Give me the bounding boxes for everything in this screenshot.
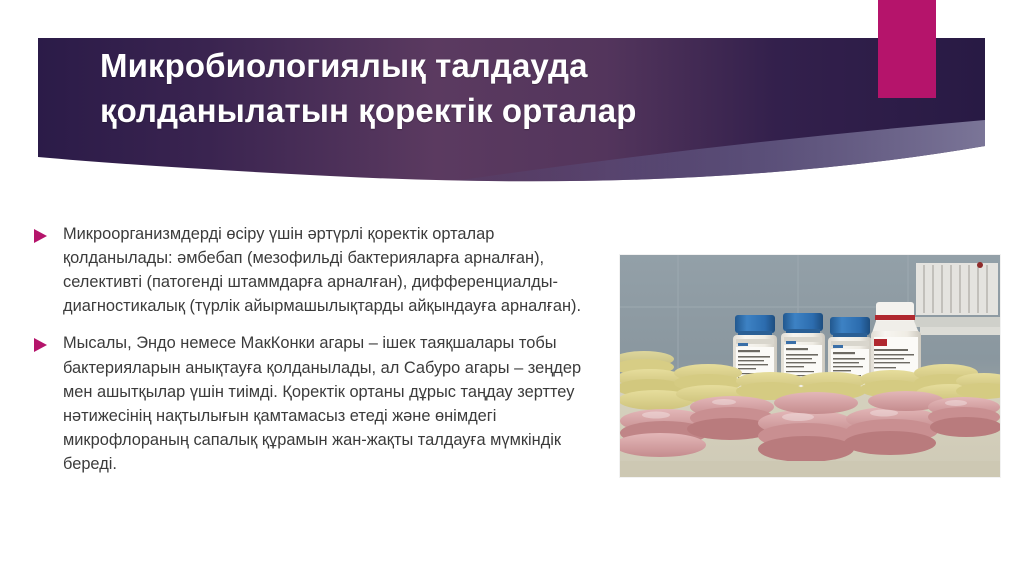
page-title: Микробиологиялық талдауда қолданылатын қ… [100,44,860,134]
list-item: Мысалы, Эндо немесе МакКонки агары – іше… [34,331,604,476]
title-block: Микробиологиялық талдауда қолданылатын қ… [100,44,860,134]
triangle-bullet-icon [34,338,50,352]
triangle-bullet-icon [34,229,50,243]
list-item-text: Микроорганизмдерді өсіру үшін әртүрлі қо… [63,222,604,318]
laboratory-culture-media-photo [620,255,1000,477]
list-item-text: Мысалы, Эндо немесе МакКонки агары – іше… [63,331,604,476]
list-item: Микроорганизмдерді өсіру үшін әртүрлі қо… [34,222,604,318]
bullet-list: Микроорганизмдерді өсіру үшін әртүрлі қо… [34,222,604,489]
pink-accent-bar [878,0,936,98]
slide-canvas: Микробиологиялық талдауда қолданылатын қ… [0,0,1024,576]
content-area: Микроорганизмдерді өсіру үшін әртүрлі қо… [0,216,1024,556]
